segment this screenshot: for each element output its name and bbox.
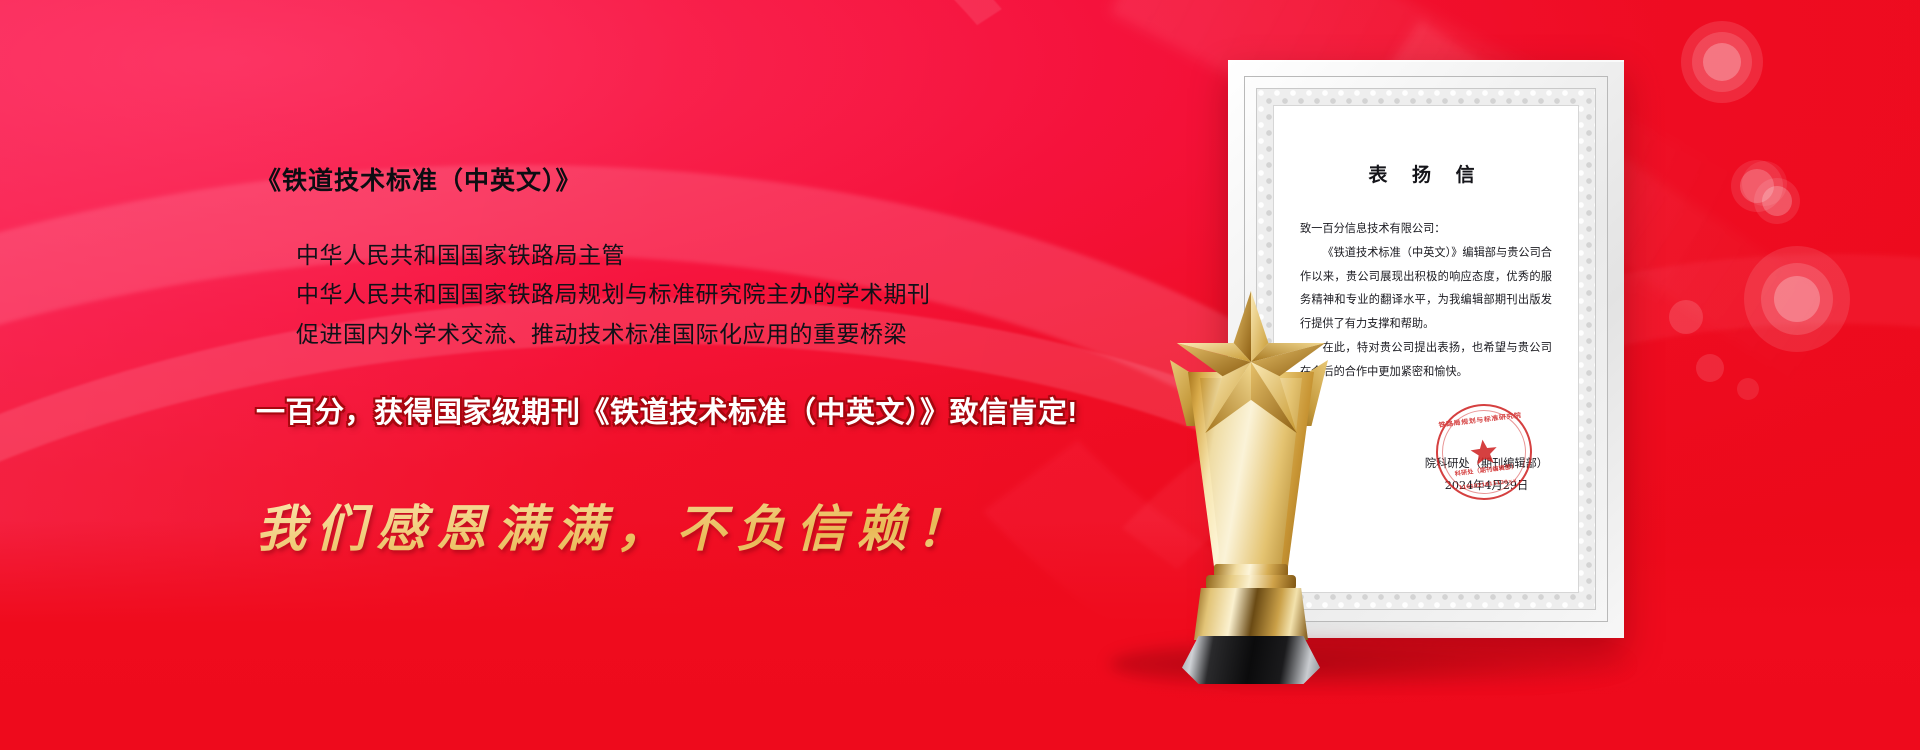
bokeh-circle-icon xyxy=(1754,178,1800,224)
page-title: 《铁道技术标准（中英文）》 xyxy=(256,165,1156,198)
trophy-plinth xyxy=(1194,588,1308,640)
promo-banner: 《铁道技术标准（中英文）》 中华人民共和国国家铁路局主管 中华人民共和国国家铁路… xyxy=(0,0,1920,750)
journal-description-list: 中华人民共和国国家铁路局主管 中华人民共和国国家铁路局规划与标准研究院主办的学术… xyxy=(256,236,1156,355)
seal-arc-text: 铁路局规划与标准研究院 xyxy=(1434,410,1526,430)
copy-block: 《铁道技术标准（中英文）》 中华人民共和国国家铁路局主管 中华人民共和国国家铁路… xyxy=(256,165,1156,561)
bokeh-circle-icon xyxy=(1737,378,1759,400)
star-trophy-icon xyxy=(1146,286,1352,686)
bokeh-circle-icon xyxy=(1669,300,1703,334)
bokeh-circle-icon xyxy=(1696,354,1724,382)
letter-salutation: 致一百分信息技术有限公司： xyxy=(1300,217,1552,241)
calligraphy-slogan: 我们感恩满满，不负信赖！ xyxy=(256,489,1156,561)
journal-description-line: 中华人民共和国国家铁路局主管 xyxy=(296,236,1156,276)
trophy-base xyxy=(1182,636,1320,684)
headline-text: 一百分，获得国家级期刊《铁道技术标准（中英文）》致信肯定! xyxy=(256,396,1156,431)
bokeh-circle-icon xyxy=(1744,246,1850,352)
letter-title: 表 扬 信 xyxy=(1300,160,1552,187)
journal-description-line: 中华人民共和国国家铁路局规划与标准研究院主办的学术期刊 xyxy=(296,275,1156,315)
trophy-star xyxy=(1172,286,1330,438)
journal-description-line: 促进国内外学术交流、推动技术标准国际化应用的重要桥梁 xyxy=(296,315,1156,355)
bokeh-circle-icon xyxy=(1681,21,1763,103)
trophy-collar xyxy=(1206,575,1296,590)
